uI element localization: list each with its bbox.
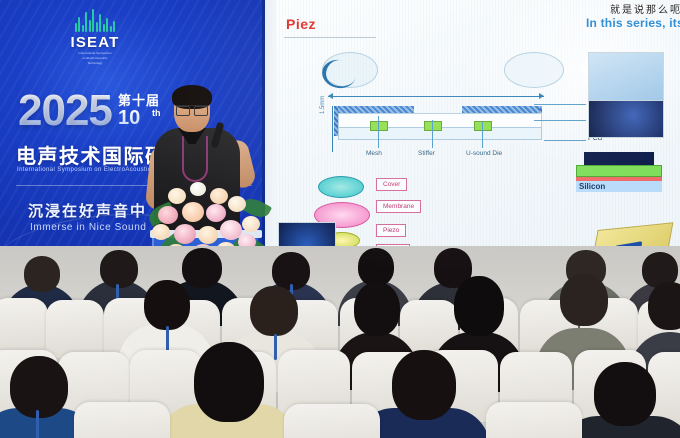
chair bbox=[74, 402, 170, 438]
person-head bbox=[144, 280, 190, 330]
chair bbox=[284, 404, 380, 438]
logo-subtitle-1: International Symposium bbox=[62, 52, 128, 56]
leader-line-mesh bbox=[378, 116, 379, 148]
person-head bbox=[10, 356, 68, 418]
person-head bbox=[354, 282, 400, 336]
iseat-logo: ISEAT International Symposium on Electro… bbox=[62, 8, 128, 65]
flower bbox=[228, 196, 246, 212]
glasses-icon bbox=[176, 105, 208, 114]
flower bbox=[206, 204, 226, 222]
micrograph-dark bbox=[588, 100, 664, 138]
badge-lanyard bbox=[36, 410, 39, 438]
lens-illustration-right bbox=[504, 52, 564, 88]
subtitle-chinese: 就是说那么呃在这个系列里的话呢。它的结构图是呃呃 bbox=[610, 1, 680, 16]
die-element-3 bbox=[474, 121, 492, 131]
layer-front-cover-right bbox=[462, 106, 540, 113]
logo-subtitle-3: Technology bbox=[62, 62, 128, 66]
callout-line-pcb bbox=[544, 140, 586, 141]
silicon-layer-metal bbox=[584, 152, 654, 165]
flower bbox=[210, 188, 228, 204]
label-stiffer: Stiffer bbox=[418, 150, 435, 157]
leader-line-stiffer bbox=[432, 120, 433, 148]
person-head bbox=[392, 350, 456, 420]
flower bbox=[198, 226, 218, 244]
conference-photo: ISEAT International Symposium on Electro… bbox=[0, 0, 680, 438]
cross-section-diagram: 1.5mm Mesh Stiffer U-sound Die bbox=[314, 52, 584, 172]
flower bbox=[190, 182, 206, 196]
callout-line-front-cover bbox=[534, 104, 586, 105]
flower bbox=[168, 188, 186, 204]
person-head bbox=[648, 282, 680, 330]
label-usound-die: U-sound Die bbox=[466, 150, 502, 157]
person-head bbox=[100, 250, 138, 288]
person-head bbox=[182, 248, 222, 288]
silicon-layer-piezo bbox=[576, 165, 662, 177]
width-dimension-line bbox=[328, 96, 544, 97]
person-head bbox=[560, 274, 608, 326]
callout-line-surround bbox=[534, 120, 586, 121]
slide-title: Piez bbox=[286, 16, 316, 32]
person-head bbox=[454, 276, 504, 336]
dimension-label: 1.5mm bbox=[320, 96, 326, 114]
subtitle-english: In this series, its structure is similar… bbox=[586, 16, 680, 30]
micrograph-top bbox=[588, 52, 664, 102]
person-head bbox=[358, 248, 394, 286]
flower bbox=[182, 202, 204, 222]
backdrop-edition-en: 10 bbox=[118, 107, 140, 130]
audience-area bbox=[0, 246, 680, 438]
backdrop-slogan-cn: 沉浸在好声音中 bbox=[28, 200, 147, 221]
person-head bbox=[24, 256, 60, 292]
silicon-layer-diagram: Silicon bbox=[576, 152, 662, 192]
backdrop-slogan-en: Immerse in Nice Sound bbox=[30, 222, 147, 233]
stack-disc-cover bbox=[318, 176, 364, 198]
silicon-label: Silicon bbox=[576, 181, 662, 192]
chair bbox=[486, 402, 582, 438]
person-head bbox=[594, 362, 656, 426]
stack-label-piezo: Piezo bbox=[376, 224, 406, 237]
person-head bbox=[194, 342, 264, 422]
slide-title-rule bbox=[284, 37, 376, 38]
waveform-icon bbox=[62, 8, 128, 32]
logo-wordmark: ISEAT bbox=[62, 34, 128, 51]
person-head bbox=[250, 286, 298, 336]
layer-front-cover-left bbox=[338, 106, 414, 113]
die-element-1 bbox=[370, 121, 388, 131]
flower bbox=[242, 216, 260, 232]
flower bbox=[152, 224, 170, 240]
stack-label-cover: Cover bbox=[376, 178, 407, 191]
die-element-2 bbox=[424, 121, 442, 131]
logo-subtitle-2: on ElectroAcoustic bbox=[62, 57, 128, 61]
flower bbox=[158, 206, 178, 224]
chair bbox=[46, 300, 104, 358]
stack-label-membrane: Membrane bbox=[376, 200, 421, 213]
backdrop-year: 2025 bbox=[18, 86, 112, 136]
leader-line-usound bbox=[482, 122, 483, 148]
flower bbox=[174, 224, 196, 244]
height-dimension-line bbox=[332, 106, 333, 152]
label-mesh: Mesh bbox=[366, 150, 382, 157]
badge-lanyard bbox=[274, 334, 277, 360]
chair bbox=[0, 298, 48, 354]
